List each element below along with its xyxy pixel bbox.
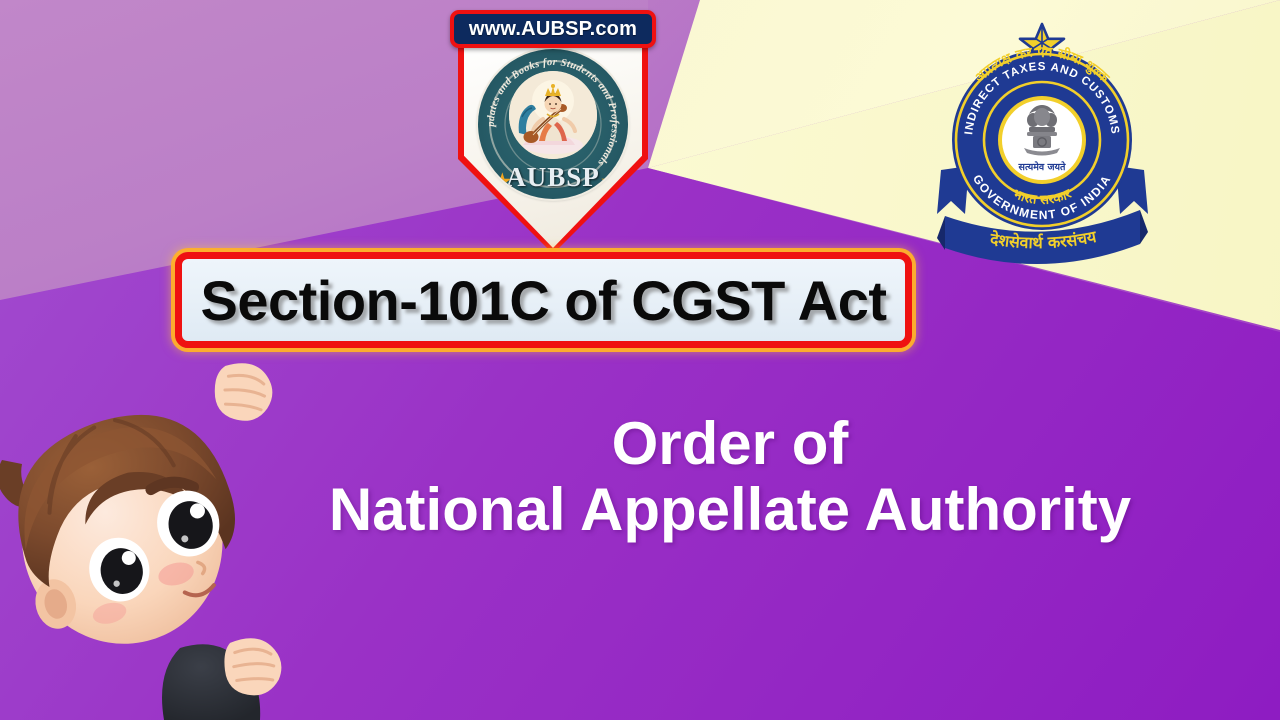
headline-line-1: Order of (250, 412, 1210, 475)
cartoon-child-illustration (0, 360, 294, 720)
section-title-banner[interactable]: Section-101C of CGST Act (175, 252, 912, 348)
section-title-text: Section-101C of CGST Act (200, 268, 886, 333)
aubsp-logo[interactable]: All Updates and Books for Students and P… (458, 38, 648, 254)
cbic-emblem: अप्रत्यक्ष कर एवं सीमा शुल्क INDIRECT TA… (935, 18, 1150, 276)
site-url-badge[interactable]: www.AUBSP.com (450, 10, 656, 48)
goddess-saraswati-icon (509, 71, 597, 159)
headline-line-2: National Appellate Authority (250, 475, 1210, 546)
logo-wordmark: AUBSP (478, 162, 628, 193)
poster-canvas: www.AUBSP.com All Updates and Books for … (0, 0, 1280, 720)
logo-emblem-circle: All Updates and Books for Students and P… (478, 49, 628, 199)
site-url-text: www.AUBSP.com (469, 18, 637, 41)
svg-text:सत्यमेव जयते: सत्यमेव जयते (1018, 161, 1067, 173)
main-headline: Order of National Appellate Authority (250, 412, 1210, 546)
